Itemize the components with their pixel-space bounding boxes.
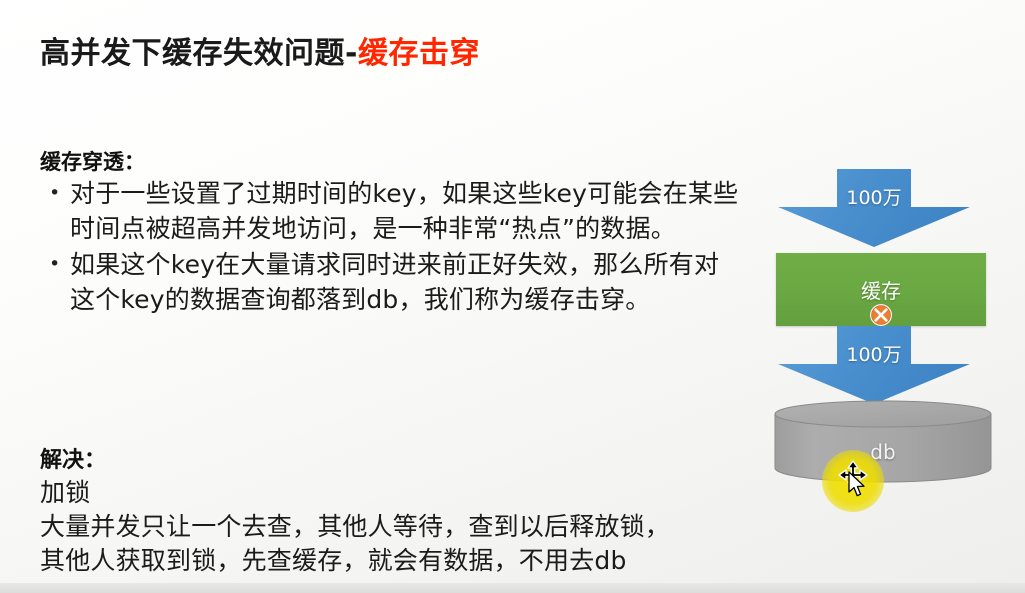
error-x-icon: [869, 303, 893, 327]
solution-block: 解决： 加锁 大量并发只让一个去查，其他人等待，查到以后释放锁， 其他人获取到锁…: [40, 446, 760, 578]
page-title: 高并发下缓存失效问题-缓存击穿: [40, 28, 480, 72]
solution-line: 大量并发只让一个去查，其他人等待，查到以后释放锁，: [40, 510, 760, 544]
list-item: 如果这个key在大量请求同时进来前正好失效，那么所有对这个key的数据查询都落到…: [40, 247, 740, 317]
page-title-main: 高并发下缓存失效问题-: [40, 36, 358, 71]
solution-line: 其他人获取到锁，先查缓存，就会有数据，不用去db: [40, 544, 760, 578]
content-column: 缓存穿透： 对于一些设置了过期时间的key，如果这些key可能会在某些时间点被超…: [40, 148, 740, 318]
arrow-down-bottom: 100万: [774, 326, 974, 404]
page-title-accent: 缓存击穿: [358, 36, 480, 71]
section-heading-solution: 解决：: [40, 446, 760, 476]
solution-line: 加锁: [40, 476, 760, 510]
slide-canvas: 高并发下缓存失效问题-缓存击穿 缓存穿透： 对于一些设置了过期时间的key，如果…: [0, 0, 1025, 593]
section-heading-penetration: 缓存穿透：: [40, 148, 740, 176]
cache-flow-diagram: 100万 缓存: [760, 150, 1010, 500]
bullet-list: 对于一些设置了过期时间的key，如果这些key可能会在某些时间点被超高并发地访问…: [40, 176, 740, 317]
arrow-down-top: 100万: [774, 169, 974, 247]
database-cylinder: db: [773, 400, 993, 485]
bottom-edge-band: [0, 583, 1025, 593]
cache-box: 缓存: [776, 253, 986, 326]
list-item: 对于一些设置了过期时间的key，如果这些key可能会在某些时间点被超高并发地访问…: [40, 176, 740, 246]
cache-box-label: 缓存: [776, 275, 986, 304]
